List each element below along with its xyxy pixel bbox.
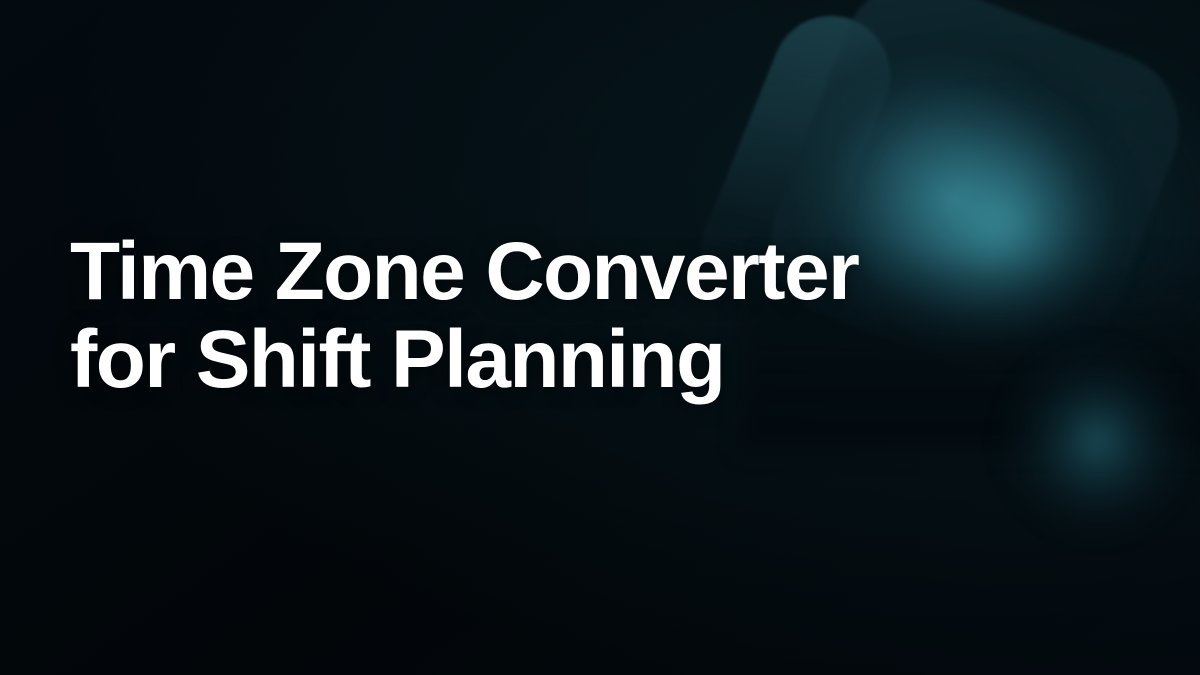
title-card-canvas: Time Zone Converter for Shift Planning	[0, 0, 1200, 675]
page-title: Time Zone Converter for Shift Planning	[70, 228, 1130, 403]
hero-content: Time Zone Converter for Shift Planning	[70, 228, 1130, 403]
